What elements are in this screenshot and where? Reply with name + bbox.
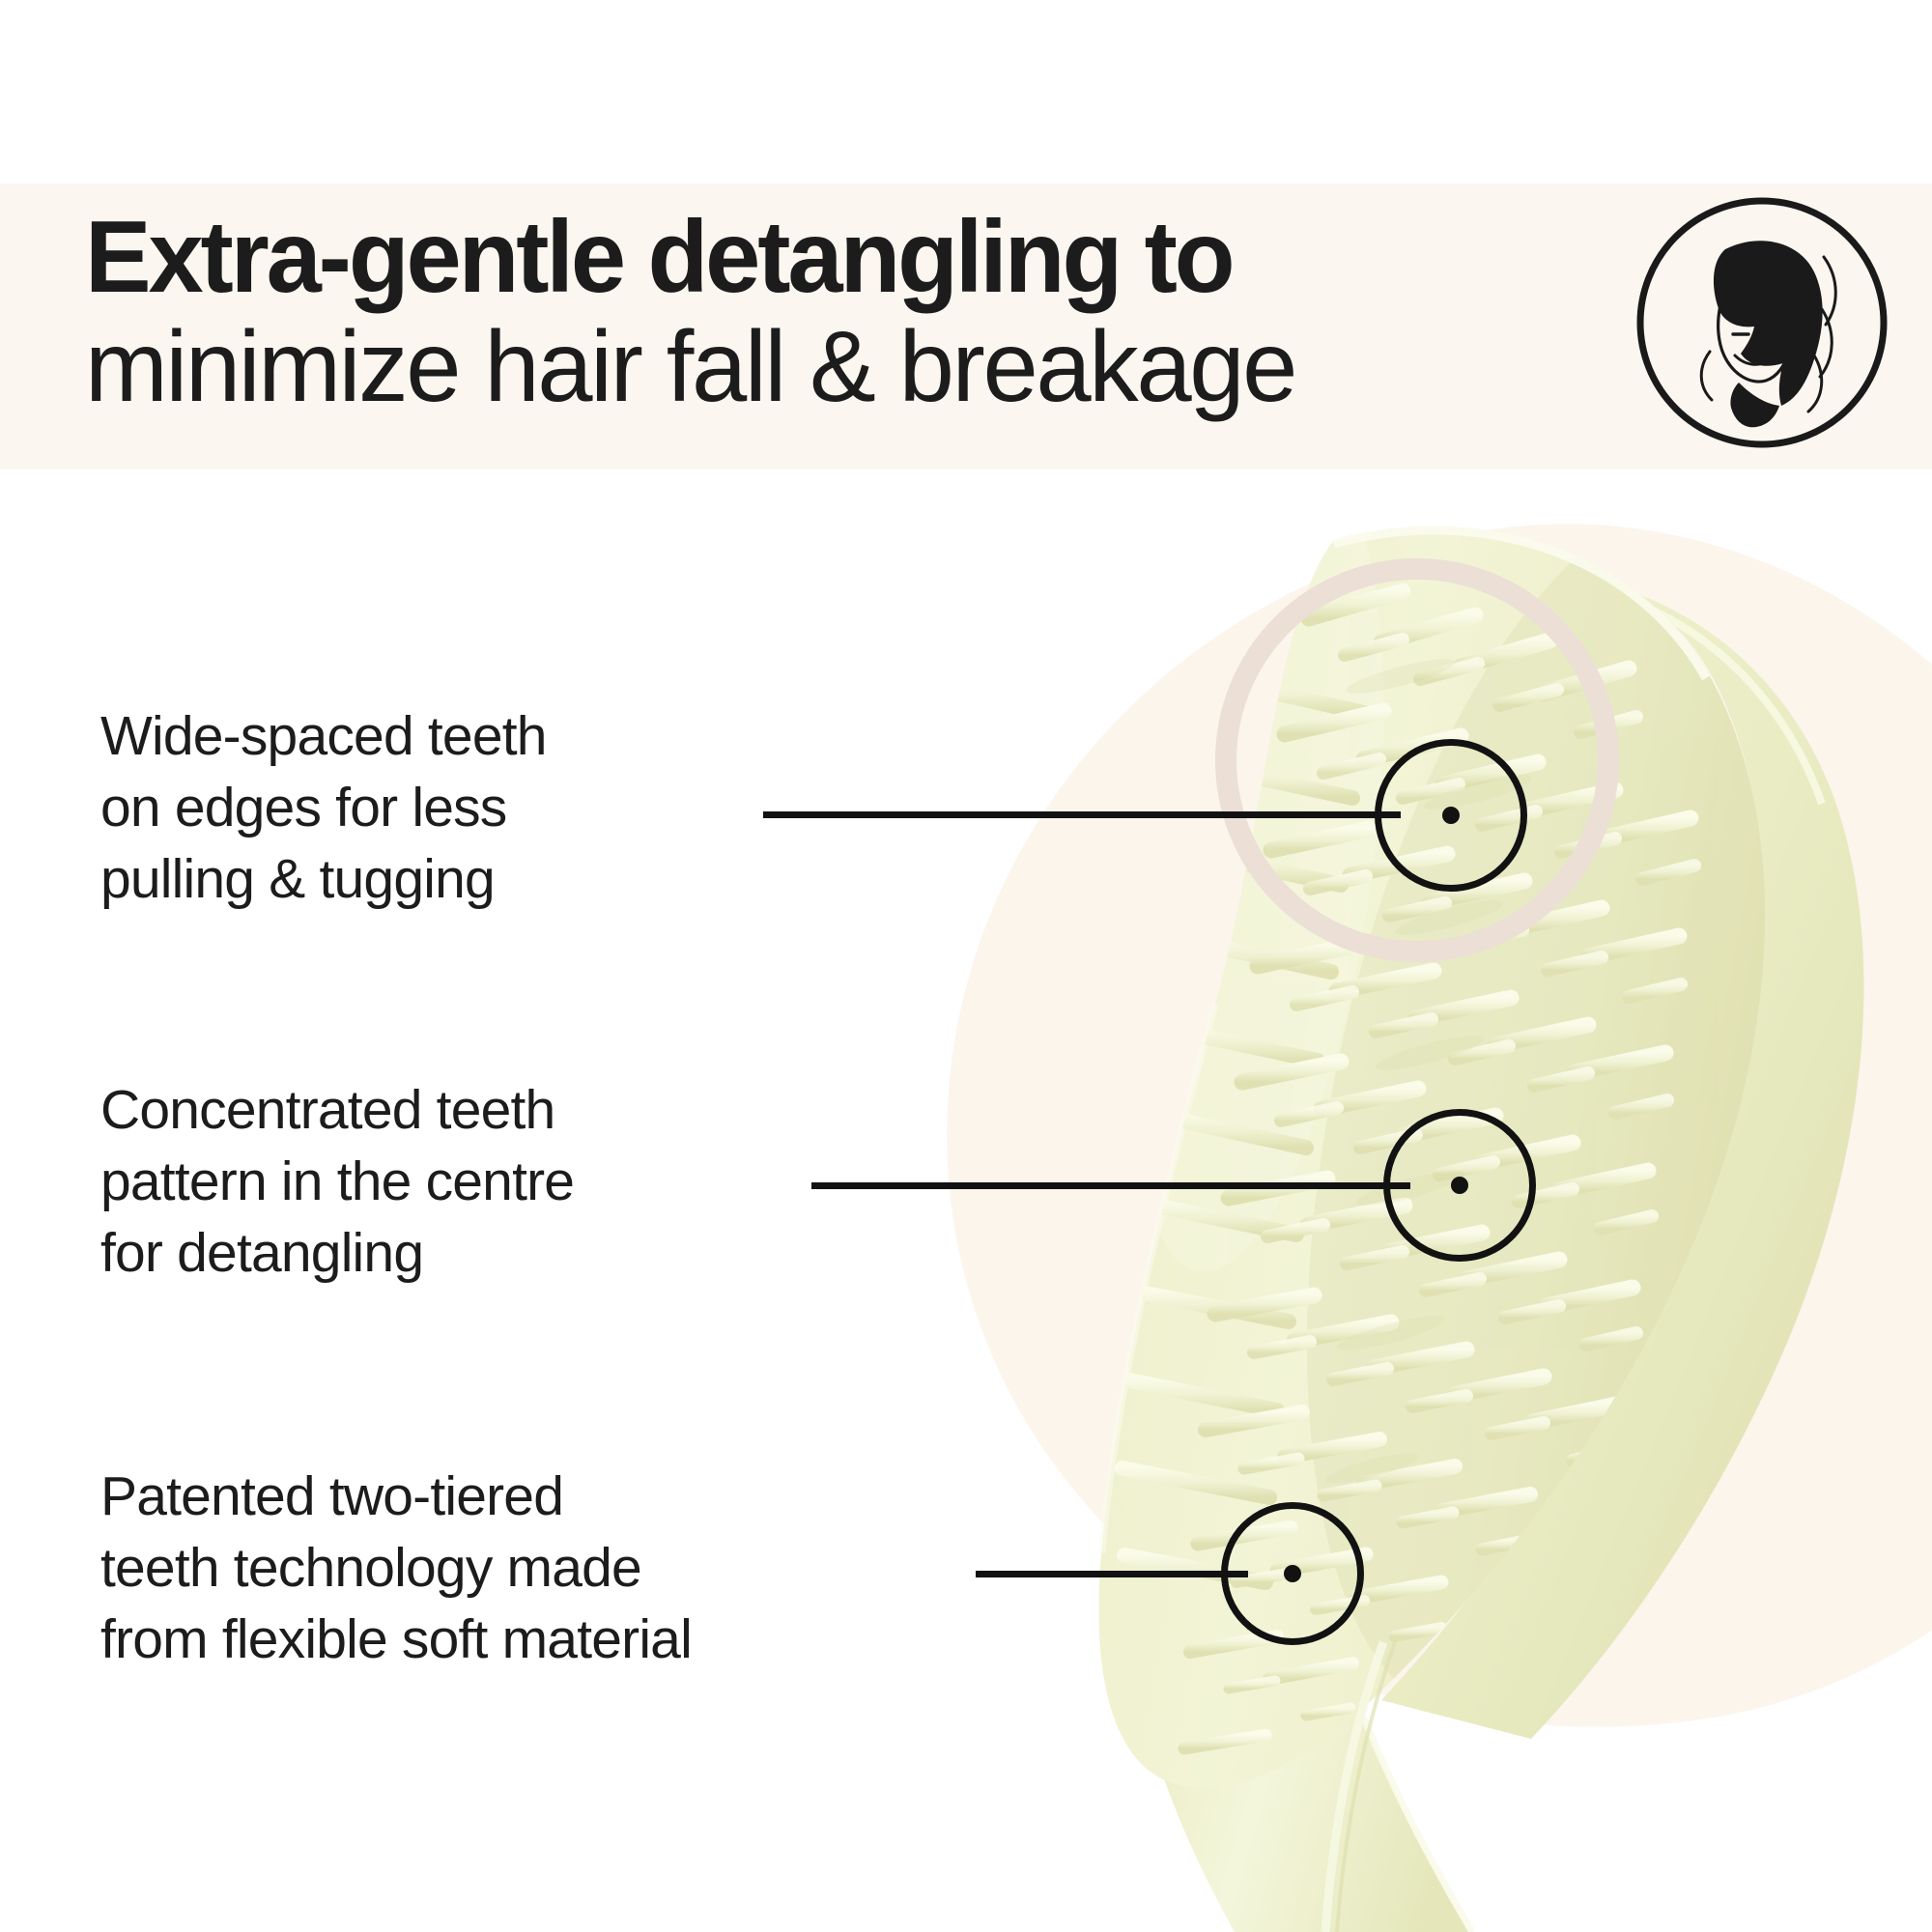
feature-label-concentrated-teeth: Concentrated teeth pattern in the centre…: [100, 1074, 815, 1289]
leader-line-1: [763, 811, 1401, 818]
callout-marker-concentrated-teeth[interactable]: [1383, 1109, 1536, 1262]
leader-line-2: [811, 1182, 1410, 1189]
headline-block: Extra-gentle detangling to minimize hair…: [85, 205, 1592, 424]
callout-dot: [1451, 1177, 1468, 1194]
callout-dot: [1442, 807, 1460, 824]
headline-line-1: Extra-gentle detangling to: [85, 205, 1547, 309]
callout-marker-two-tiered-teeth[interactable]: [1221, 1502, 1364, 1645]
headline-line-2: minimize hair fall & breakage: [85, 311, 1577, 423]
leader-line-3: [976, 1571, 1248, 1577]
callout-dot: [1284, 1565, 1301, 1582]
callout-marker-wide-spaced-teeth[interactable]: [1375, 739, 1527, 892]
feature-label-wide-spaced-teeth: Wide-spaced teeth on edges for less pull…: [100, 700, 777, 915]
infographic-canvas: Wide-spaced teeth on edges for less pull…: [0, 0, 1932, 1932]
woman-hair-icon: [1633, 193, 1891, 452]
feature-label-two-tiered-teeth: Patented two-tiered teeth technology mad…: [100, 1461, 989, 1675]
